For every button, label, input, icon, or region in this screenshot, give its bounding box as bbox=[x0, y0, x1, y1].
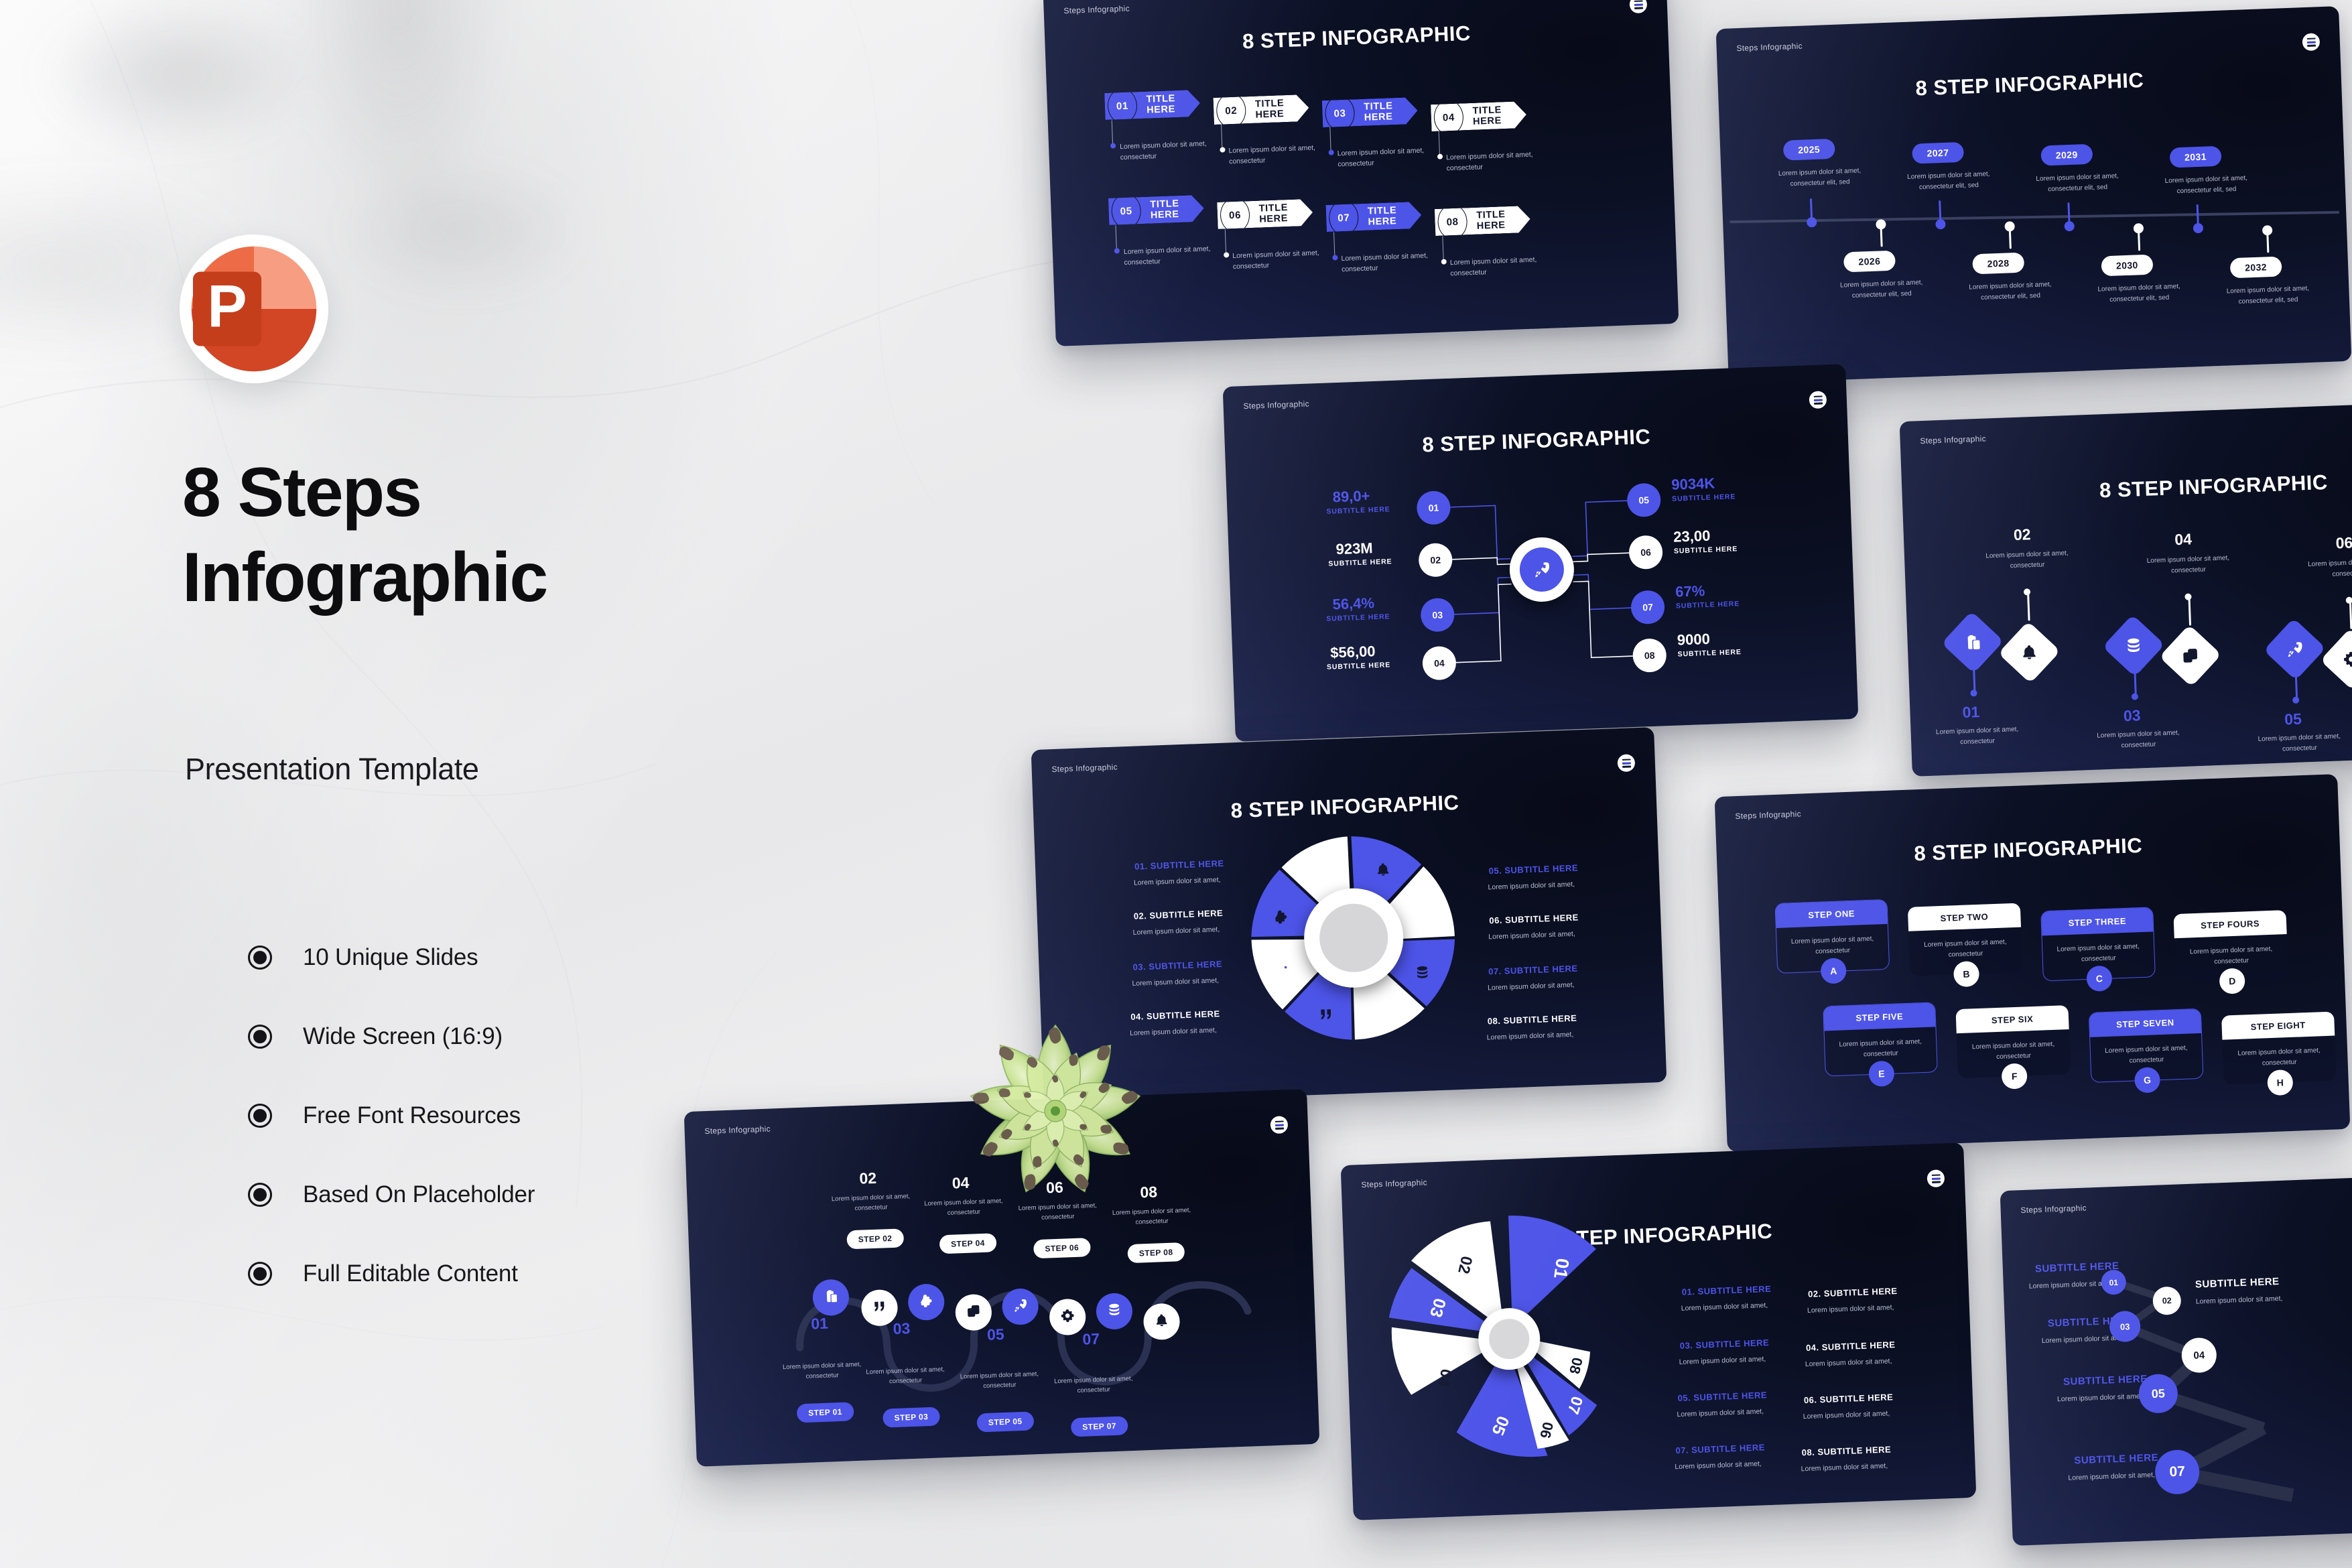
menu-logo-icon[interactable] bbox=[2302, 33, 2321, 51]
gear-icon bbox=[1060, 1308, 1075, 1327]
timeline-text: Lorem ipsum dolor sit amet,consectetur e… bbox=[2028, 171, 2127, 195]
svg-text:P: P bbox=[207, 273, 247, 340]
timeline-text: Lorem ipsum dolor sit amet,consectetur e… bbox=[1900, 169, 1998, 193]
bell-icon bbox=[1375, 862, 1391, 881]
chevron-step-01[interactable]: 01 TITLE HERE bbox=[1104, 90, 1200, 120]
diamond-dot bbox=[2346, 597, 2352, 604]
list-item: Wide Screen (16:9) bbox=[248, 997, 851, 1076]
coins-icon bbox=[1415, 965, 1431, 984]
leader-line bbox=[1112, 121, 1114, 146]
timeline-pill-2026[interactable]: 2026 bbox=[1843, 251, 1896, 273]
donut-center-inner bbox=[1318, 903, 1389, 974]
diamond-number-02: 02 bbox=[2013, 525, 2031, 544]
hero-title-line2: Infographic bbox=[182, 535, 933, 620]
list-item: 10 Unique Slides bbox=[248, 918, 851, 997]
slide-diamond-steps[interactable]: Steps Infographic 8 STEP INFOGRAPHIC 02 … bbox=[1900, 399, 2352, 777]
timeline-node bbox=[1807, 217, 1817, 228]
wave-text-07: Lorem ipsum dolor sit amet, consectetur bbox=[1051, 1374, 1135, 1397]
diamond-01[interactable] bbox=[1941, 611, 2004, 673]
menu-logo-icon[interactable] bbox=[1618, 754, 1636, 772]
wave-text-01: Lorem ipsum dolor sit amet, consectetur bbox=[780, 1360, 864, 1383]
pinwheel-legend-07: 07. SUBTITLE HERE bbox=[1675, 1442, 1765, 1455]
diamond-06[interactable] bbox=[2320, 628, 2352, 690]
gear-icon bbox=[1373, 1006, 1389, 1026]
diamond-number-01: 01 bbox=[1962, 703, 1980, 722]
wave-text-05: Lorem ipsum dolor sit amet, consectetur bbox=[958, 1370, 1041, 1392]
hub-value-08: 9000 bbox=[1677, 631, 1710, 649]
timeline-pill-2031[interactable]: 2031 bbox=[2170, 146, 2222, 168]
timeline-node bbox=[1935, 219, 1946, 230]
diamond-05[interactable] bbox=[2264, 618, 2326, 680]
leader-line bbox=[1439, 131, 1441, 157]
timeline-pill-2030[interactable]: 2030 bbox=[2101, 255, 2153, 277]
step-card-eight[interactable]: STEP EIGHT Lorem ipsum dolor sit amet, c… bbox=[2221, 1012, 2337, 1085]
leader-dot bbox=[1224, 252, 1230, 258]
wave-number-03: 03 bbox=[893, 1319, 911, 1338]
pinwheel-text-01: Lorem ipsum dolor sit amet, bbox=[1681, 1299, 1808, 1314]
slide-brand-tag: Steps Infographic bbox=[704, 1124, 771, 1136]
bell-icon bbox=[2020, 643, 2038, 661]
diamond-dot bbox=[1970, 690, 1977, 696]
wave-pill-04[interactable]: STEP 04 bbox=[939, 1233, 997, 1254]
quote-icon bbox=[1318, 1006, 1334, 1026]
timeline-pill-2032[interactable]: 2032 bbox=[2230, 257, 2282, 279]
chevron-number: 05 bbox=[1111, 193, 1142, 229]
donut-label-07: 07. SUBTITLE HERE bbox=[1488, 964, 1578, 977]
timeline-pill-2027[interactable]: 2027 bbox=[1912, 142, 1964, 164]
slide-brand-tag: Steps Infographic bbox=[1063, 4, 1130, 16]
card-header: STEP THREE bbox=[2041, 907, 2153, 935]
bullet-icon bbox=[248, 945, 272, 970]
chevron-label: TITLE HERE bbox=[1150, 198, 1184, 221]
rocket-icon bbox=[1275, 962, 1291, 981]
menu-logo-icon[interactable] bbox=[1927, 1169, 1945, 1187]
diamond-dot bbox=[2184, 593, 2191, 600]
chevron-number: 06 bbox=[1220, 197, 1250, 233]
feature-label: Based On Placeholder bbox=[303, 1181, 535, 1208]
coins-icon bbox=[2125, 637, 2143, 655]
chevron-label: TITLE HERE bbox=[1368, 205, 1402, 228]
slide-chevron-steps[interactable]: Steps Infographic 8 STEP INFOGRAPHIC 01 … bbox=[1043, 0, 1679, 346]
slide-hub-stats[interactable]: Steps Infographic 8 STEP INFOGRAPHIC 01 … bbox=[1223, 364, 1859, 742]
diamond-dot bbox=[2292, 697, 2299, 704]
pinwheel-legend-05: 05. SUBTITLE HERE bbox=[1677, 1390, 1767, 1403]
bullet-icon bbox=[248, 1262, 272, 1286]
step-card-three[interactable]: STEP THREE Lorem ipsum dolor sit amet, c… bbox=[2040, 907, 2156, 981]
chevron-tail bbox=[1309, 101, 1327, 128]
svg-text:08: 08 bbox=[1566, 1356, 1586, 1376]
chevron-label: TITLE HERE bbox=[1476, 209, 1510, 232]
leader-line bbox=[1333, 233, 1335, 258]
pinwheel-legend-01: 01. SUBTITLE HERE bbox=[1682, 1284, 1772, 1297]
chevron-step-03[interactable]: 03 TITLE HERE bbox=[1322, 97, 1418, 127]
donut-label-03: 03. SUBTITLE HERE bbox=[1132, 959, 1222, 972]
wave-text-02: Lorem ipsum dolor sit amet, consectetur bbox=[829, 1192, 913, 1215]
chevron-label: TITLE HERE bbox=[1255, 98, 1289, 121]
chevron-step-02[interactable]: 02 TITLE HERE bbox=[1214, 94, 1309, 125]
wave-pill-03[interactable]: STEP 03 bbox=[883, 1407, 940, 1428]
bullet-icon bbox=[248, 1025, 272, 1049]
card-badge-c: C bbox=[2086, 966, 2112, 992]
diamond-dot bbox=[2132, 693, 2138, 700]
gear-icon bbox=[2343, 650, 2352, 668]
chevron-label: TITLE HERE bbox=[1258, 202, 1293, 225]
donut-label-02: 02. SUBTITLE HERE bbox=[1134, 908, 1224, 921]
pinwheel-text-05: Lorem ipsum dolor sit amet, bbox=[1677, 1404, 1804, 1420]
card-header: STEP ONE bbox=[1776, 900, 1888, 928]
step-card-one[interactable]: STEP ONE Lorem ipsum dolor sit amet, con… bbox=[1774, 899, 1890, 974]
slide-title: 8 STEP INFOGRAPHIC bbox=[1718, 61, 2342, 108]
card-header: STEP FOURS bbox=[2173, 910, 2286, 938]
diamond-text: Lorem ipsum dolor sit amet, consectetur bbox=[2256, 731, 2343, 755]
slide-title: 8 STEP INFOGRAPHIC bbox=[1045, 14, 1669, 61]
donut-text-03: Lorem ipsum dolor sit amet, bbox=[1132, 974, 1259, 989]
chevron-step-07[interactable]: 07 TITLE HERE bbox=[1326, 202, 1422, 232]
bullet-icon bbox=[248, 1104, 272, 1128]
layers-icon bbox=[966, 1303, 981, 1322]
chevron-number: 02 bbox=[1216, 92, 1246, 129]
donut-text-01: Lorem ipsum dolor sit amet, bbox=[1134, 873, 1261, 889]
hero-subtitle: Presentation Template bbox=[185, 752, 479, 787]
timeline-pill-2025[interactable]: 2025 bbox=[1783, 139, 1835, 161]
wave-text-03: Lorem ipsum dolor sit amet, consectetur bbox=[864, 1365, 948, 1388]
card-header: STEP FIVE bbox=[1823, 1002, 1935, 1031]
wave-pill-07[interactable]: STEP 07 bbox=[1071, 1416, 1128, 1437]
step-card-six[interactable]: STEP SIX Lorem ipsum dolor sit amet, con… bbox=[1955, 1005, 2071, 1078]
leader-dot bbox=[1328, 149, 1334, 155]
chevron-label: TITLE HERE bbox=[1364, 101, 1398, 123]
slide-brand-tag: Steps Infographic bbox=[1920, 434, 1986, 446]
slide-step-cards[interactable]: Steps Infographic 8 STEP INFOGRAPHIC STE… bbox=[1715, 774, 2351, 1152]
rocket-icon bbox=[2286, 640, 2304, 658]
timeline-text: Lorem ipsum dolor sit amet,consectetur e… bbox=[1832, 277, 1931, 302]
slide-brand-tag: Steps Infographic bbox=[1735, 809, 1801, 822]
diamond-text: Lorem ipsum dolor sit amet, consectetur bbox=[2095, 728, 2182, 752]
card-header: STEP SIX bbox=[1955, 1005, 2069, 1033]
pinwheel-text-08: Lorem ipsum dolor sit amet, bbox=[1801, 1459, 1928, 1474]
leader-line bbox=[1225, 229, 1227, 255]
leader-dot bbox=[1220, 147, 1226, 153]
hub-value-03: 56,4% bbox=[1332, 594, 1374, 613]
clipboard-icon bbox=[823, 1288, 838, 1307]
wave-pill-05[interactable]: STEP 05 bbox=[976, 1411, 1034, 1432]
leader-line bbox=[1329, 127, 1331, 153]
wave-number-01: 01 bbox=[811, 1315, 829, 1333]
layers-icon bbox=[2181, 647, 2199, 665]
menu-logo-icon[interactable] bbox=[1630, 0, 1648, 13]
chevron-step-04[interactable]: 04 TITLE HERE bbox=[1431, 101, 1526, 131]
puzzle-icon bbox=[1273, 909, 1289, 928]
slide-timeline[interactable]: Steps Infographic 8 STEP INFOGRAPHIC 202… bbox=[1716, 6, 2352, 384]
svg-text:04: 04 bbox=[1434, 1367, 1455, 1388]
leader-dot bbox=[1110, 143, 1116, 149]
leader-line bbox=[1442, 237, 1444, 262]
card-badge-a: A bbox=[1821, 958, 1847, 984]
clipboard-icon bbox=[1321, 860, 1337, 880]
chevron-tail bbox=[1091, 93, 1109, 121]
chevron-step-06[interactable]: 06 TITLE HERE bbox=[1217, 199, 1313, 229]
pinwheel-text-02: Lorem ipsum dolor sit amet, bbox=[1807, 1301, 1935, 1316]
timeline-node bbox=[2064, 221, 2075, 232]
card-header: STEP TWO bbox=[1908, 903, 2021, 931]
slide-title: 8 STEP INFOGRAPHIC bbox=[1716, 826, 2340, 873]
slide-brand-tag: Steps Infographic bbox=[1736, 42, 1803, 54]
leader-dot bbox=[1437, 153, 1443, 159]
diamond-text: Lorem ipsum dolor sit amet, consectetur bbox=[1933, 724, 2021, 748]
leader-dot bbox=[1332, 255, 1338, 261]
donut-label-01: 01. SUBTITLE HERE bbox=[1134, 858, 1224, 872]
step-card-seven[interactable]: STEP SEVEN Lorem ipsum dolor sit amet, c… bbox=[2089, 1008, 2204, 1083]
timeline-text: Lorem ipsum dolor sit amet,consectetur e… bbox=[2157, 173, 2256, 197]
chevron-step-08[interactable]: 08 TITLE HERE bbox=[1435, 206, 1530, 236]
donut-label-05: 05. SUBTITLE HERE bbox=[1488, 862, 1578, 876]
slide-title: 8 STEP INFOGRAPHIC bbox=[1902, 463, 2352, 510]
wave-number-05: 05 bbox=[987, 1325, 1005, 1344]
chevron-description: Lorem ipsum dolor sit amet, consectetur bbox=[1228, 142, 1317, 167]
pinwheel-legend-04: 04. SUBTITLE HERE bbox=[1806, 1340, 1896, 1353]
chevron-label: TITLE HERE bbox=[1146, 93, 1180, 116]
timeline-text: Lorem ipsum dolor sit amet,consectetur e… bbox=[2090, 281, 2188, 306]
diamond-dot bbox=[2024, 588, 2030, 595]
timeline-node bbox=[2193, 223, 2204, 234]
slide-pinwheel[interactable]: Steps Infographic 8 STEP INFOGRAPHIC 01 … bbox=[1341, 1142, 1977, 1520]
step-card-five[interactable]: STEP FIVE Lorem ipsum dolor sit amet, co… bbox=[1823, 1002, 1938, 1076]
donut-text-02: Lorem ipsum dolor sit amet, bbox=[1132, 923, 1260, 938]
chevron-description: Lorem ipsum dolor sit amet, consectetur bbox=[1124, 243, 1213, 268]
pinwheel-text-03: Lorem ipsum dolor sit amet, bbox=[1679, 1352, 1806, 1368]
slide-title: 8 STEP INFOGRAPHIC bbox=[1033, 783, 1657, 830]
feature-label: Free Font Resources bbox=[303, 1102, 521, 1129]
step-card-two[interactable]: STEP TWO Lorem ipsum dolor sit amet, con… bbox=[1908, 903, 2023, 976]
chevron-description: Lorem ipsum dolor sit amet, consectetur bbox=[1120, 138, 1209, 163]
page-title: 8 Steps Infographic bbox=[182, 450, 933, 620]
chevron-number: 04 bbox=[1433, 99, 1464, 135]
wave-number-07: 07 bbox=[1082, 1330, 1100, 1349]
hub-value-06: 23,00 bbox=[1673, 527, 1711, 546]
slide-brand-tag: Steps Infographic bbox=[1361, 1178, 1427, 1190]
quote-icon bbox=[872, 1299, 887, 1317]
succulent-plant bbox=[941, 998, 1169, 1220]
menu-logo-icon[interactable] bbox=[1270, 1116, 1289, 1134]
chevron-tail bbox=[1417, 105, 1435, 132]
coins-icon bbox=[1106, 1302, 1122, 1321]
layers-icon bbox=[1415, 913, 1431, 933]
chevron-number: 03 bbox=[1325, 95, 1356, 131]
hub-value-04: $56,00 bbox=[1330, 643, 1376, 661]
timeline-text: Lorem ipsum dolor sit amet,consectetur e… bbox=[2219, 283, 2317, 308]
svg-text:01: 01 bbox=[1550, 1257, 1573, 1280]
timeline-pill-2028[interactable]: 2028 bbox=[1972, 253, 2024, 275]
chevron-description: Lorem ipsum dolor sit amet, consectetur bbox=[1446, 149, 1535, 174]
hub-value-01: 89,0+ bbox=[1332, 487, 1370, 506]
powerpoint-icon: P bbox=[180, 235, 328, 383]
diamond-stem bbox=[2188, 597, 2192, 625]
wave-pill-02[interactable]: STEP 02 bbox=[846, 1228, 904, 1249]
leader-line bbox=[1115, 225, 1117, 251]
puzzle-icon bbox=[919, 1293, 934, 1311]
donut-label-06: 06. SUBTITLE HERE bbox=[1489, 912, 1579, 925]
feature-label: 10 Unique Slides bbox=[303, 944, 478, 971]
chevron-number: 08 bbox=[1437, 204, 1468, 240]
chevron-description: Lorem ipsum dolor sit amet, consectetur bbox=[1232, 247, 1321, 272]
hero-title-line1: 8 Steps bbox=[182, 450, 933, 535]
card-header: STEP SEVEN bbox=[2089, 1009, 2201, 1037]
leader-dot bbox=[1441, 259, 1447, 265]
diamond-number-06: 06 bbox=[2335, 534, 2352, 553]
slide-network[interactable]: Steps Infographic SUBTITLE HERE Lorem ip… bbox=[2000, 1168, 2352, 1546]
pinwheel-text-04: Lorem ipsum dolor sit amet, bbox=[1805, 1354, 1933, 1370]
slide-brand-tag: Steps Infographic bbox=[1051, 763, 1118, 775]
hub-value-05: 9034K bbox=[1671, 474, 1715, 493]
card-badge-h: H bbox=[2267, 1069, 2293, 1096]
wave-pill-01[interactable]: STEP 01 bbox=[797, 1402, 854, 1423]
pinwheel-text-07: Lorem ipsum dolor sit amet, bbox=[1675, 1457, 1802, 1472]
pinwheel-legend-06: 06. SUBTITLE HERE bbox=[1804, 1392, 1894, 1405]
chevron-step-05[interactable]: 05 TITLE HERE bbox=[1108, 195, 1204, 225]
donut-text-06: Lorem ipsum dolor sit amet, bbox=[1488, 927, 1616, 942]
rocket-icon bbox=[1519, 547, 1565, 592]
wave-pill-08[interactable]: STEP 08 bbox=[1127, 1242, 1185, 1263]
chevron-description: Lorem ipsum dolor sit amet, consectetur bbox=[1450, 254, 1539, 279]
diamond-stem bbox=[2349, 601, 2352, 629]
rocket-icon bbox=[1012, 1297, 1028, 1316]
diamond-stem bbox=[2027, 592, 2030, 620]
chevron-tail bbox=[1421, 209, 1439, 237]
chevron-number: 07 bbox=[1328, 200, 1359, 236]
bullet-icon bbox=[248, 1183, 272, 1207]
chevron-number: 01 bbox=[1107, 88, 1138, 124]
pinwheel-legend-02: 02. SUBTITLE HERE bbox=[1808, 1286, 1898, 1299]
card-badge-f: F bbox=[2001, 1063, 2027, 1089]
diamond-03[interactable] bbox=[2102, 614, 2164, 677]
chevron-tail bbox=[1200, 98, 1218, 125]
step-card-fours[interactable]: STEP FOURS Lorem ipsum dolor sit amet, c… bbox=[2173, 910, 2288, 983]
clipboard-icon bbox=[1963, 633, 1981, 651]
diamond-text: Lorem ipsum dolor sit amet, consectetur bbox=[2144, 553, 2232, 577]
pinwheel-text-06: Lorem ipsum dolor sit amet, bbox=[1803, 1407, 1931, 1422]
feature-label: Wide Screen (16:9) bbox=[303, 1023, 503, 1050]
diamond-number-03: 03 bbox=[2123, 706, 2141, 725]
diamond-02[interactable] bbox=[1998, 621, 2061, 683]
bell-icon bbox=[1154, 1312, 1169, 1331]
donut-text-07: Lorem ipsum dolor sit amet, bbox=[1488, 978, 1615, 994]
timeline-pill-2029[interactable]: 2029 bbox=[2040, 144, 2093, 166]
chevron-tail bbox=[1203, 202, 1222, 230]
card-badge-d: D bbox=[2219, 968, 2245, 994]
chevron-description: Lorem ipsum dolor sit amet, consectetur bbox=[1337, 145, 1426, 170]
pinwheel-legend-03: 03. SUBTITLE HERE bbox=[1680, 1337, 1770, 1351]
chevron-description: Lorem ipsum dolor sit amet, consectetur bbox=[1341, 250, 1430, 275]
timeline-text: Lorem ipsum dolor sit amet,consectetur e… bbox=[1961, 279, 2060, 304]
diamond-04[interactable] bbox=[2159, 625, 2221, 687]
timeline-axis bbox=[1729, 211, 2339, 223]
hub-value-07: 67% bbox=[1675, 582, 1705, 601]
pinwheel-center-inner bbox=[1488, 1318, 1530, 1360]
svg-text:06: 06 bbox=[1537, 1421, 1557, 1440]
pinwheel-legend-08: 08. SUBTITLE HERE bbox=[1801, 1444, 1891, 1457]
chevron-tail bbox=[1095, 198, 1113, 226]
chevron-tail bbox=[1313, 205, 1331, 233]
timeline-text: Lorem ipsum dolor sit amet,consectetur e… bbox=[1770, 166, 1869, 190]
wave-number-02: 02 bbox=[859, 1169, 877, 1188]
card-badge-b: B bbox=[1953, 961, 1979, 987]
diamond-text: Lorem ipsum dolor sit amet, consectetur bbox=[1983, 548, 2071, 572]
leader-line bbox=[1221, 125, 1223, 150]
leader-dot bbox=[1114, 248, 1120, 254]
donut-label-08: 08. SUBTITLE HERE bbox=[1488, 1013, 1577, 1027]
chevron-label: TITLE HERE bbox=[1472, 105, 1506, 127]
card-header: STEP EIGHT bbox=[2221, 1012, 2335, 1040]
card-badge-g: G bbox=[2134, 1067, 2160, 1093]
card-badge-e: E bbox=[1868, 1061, 1894, 1087]
diamond-text: Lorem ipsum dolor sit amet, consectetur bbox=[2306, 556, 2352, 580]
hub-value-02: 923M bbox=[1335, 539, 1373, 558]
feature-label: Full Editable Content bbox=[303, 1260, 518, 1287]
diamond-number-04: 04 bbox=[2174, 530, 2193, 549]
donut-text-08: Lorem ipsum dolor sit amet, bbox=[1486, 1028, 1614, 1043]
donut-text-05: Lorem ipsum dolor sit amet, bbox=[1488, 877, 1615, 893]
diamond-number-05: 05 bbox=[2284, 710, 2302, 729]
wave-pill-06[interactable]: STEP 06 bbox=[1033, 1238, 1091, 1258]
